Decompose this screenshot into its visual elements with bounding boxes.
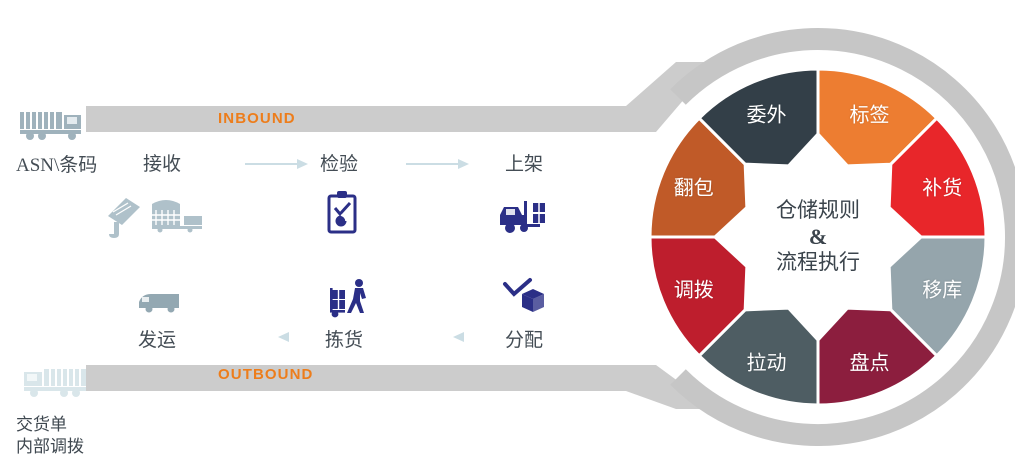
inbound-connector-arrow-1 — [406, 158, 470, 170]
delivery-truck-icon — [137, 288, 185, 316]
wheel-hub-text: 仓储规则 & 流程执行 — [741, 160, 895, 314]
hand-truck-picker-icon — [328, 278, 372, 320]
hub-ampersand: & — [809, 224, 827, 251]
warehouse-rules-wheel: 仓储规则 & 流程执行 标签补货移库盘点拉动调拨翻包委外 — [621, 28, 1015, 446]
outbound-connector-arrow-0 — [277, 330, 291, 344]
outbound-step-label-0: 发运 — [138, 325, 176, 352]
inbound-step-label-0: 接收 — [143, 149, 181, 176]
inbound-truck-icon — [18, 106, 90, 142]
inbound-connector-arrow-0 — [245, 158, 309, 170]
outbound-source-doc-line1: 交货单 — [16, 414, 84, 436]
outbound-source-doc-label: 交货单 内部调拨 — [16, 414, 84, 458]
barcode-scanner-warehouse-icon — [100, 190, 208, 240]
hub-line-1: 仓储规则 — [776, 198, 860, 224]
inbound-step-label-1: 检验 — [320, 149, 358, 176]
outbound-band-label: OUTBOUND — [218, 366, 313, 383]
outbound-step-label-2: 分配 — [505, 325, 543, 352]
outbound-step-label-1: 拣货 — [325, 325, 363, 352]
hub-line-2: 流程执行 — [776, 250, 860, 276]
outbound-source-doc-line2: 内部调拨 — [16, 436, 84, 458]
forklift-putaway-icon — [500, 193, 552, 235]
warehouse-process-diagram: INBOUND ASN\条码 接收 — [0, 0, 1015, 471]
outbound-truck-icon — [18, 363, 90, 399]
inbound-step-label-2: 上架 — [505, 149, 543, 176]
outbound-connector-arrow-1 — [452, 330, 466, 344]
inbound-band-label: INBOUND — [218, 110, 296, 127]
clipboard-check-icon — [326, 190, 358, 236]
box-check-allocate-icon — [502, 277, 546, 319]
inbound-source-doc-label: ASN\条码 — [16, 150, 97, 177]
